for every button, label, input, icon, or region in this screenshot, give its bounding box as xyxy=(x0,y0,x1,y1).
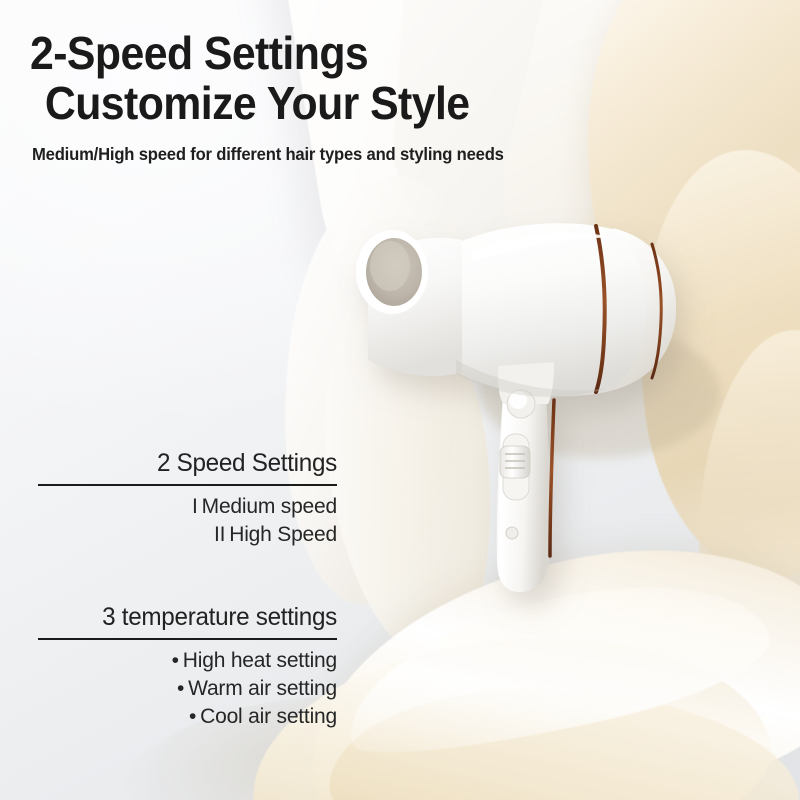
subtitle: Medium/High speed for different hair typ… xyxy=(32,144,504,165)
nozzle-bore-highlight xyxy=(370,241,410,291)
item-marker: • xyxy=(189,705,196,728)
item-label: Warm air setting xyxy=(188,677,337,700)
feature-divider-temperature xyxy=(38,638,337,640)
feature-title-speed: 2 Speed Settings xyxy=(47,448,337,478)
item-label: High Speed xyxy=(229,523,337,546)
item-marker: II xyxy=(214,523,225,546)
list-item: •High heat setting xyxy=(38,647,337,675)
indicator-dot xyxy=(506,527,518,539)
item-marker: • xyxy=(172,649,179,672)
feature-block-temperature: 3 temperature settings •High heat settin… xyxy=(38,602,337,731)
feature-divider-speed xyxy=(38,484,337,486)
headline-line-1: 2-Speed Settings xyxy=(30,28,470,78)
item-label: Medium speed xyxy=(202,495,337,518)
list-item: IMedium speed xyxy=(38,493,337,521)
list-item: •Cool air setting xyxy=(38,703,337,731)
list-item: IIHigh Speed xyxy=(38,521,337,549)
feature-block-speed: 2 Speed Settings IMedium speed IIHigh Sp… xyxy=(38,448,337,549)
feature-title-temperature: 3 temperature settings xyxy=(47,602,337,632)
item-marker: I xyxy=(192,495,198,518)
headline-line-2: Customize Your Style xyxy=(30,78,470,128)
product-feature-banner: 2-Speed Settings Customize Your Style Me… xyxy=(0,0,800,800)
headline: 2-Speed Settings Customize Your Style xyxy=(30,28,470,128)
feature-items-temperature: •High heat setting •Warm air setting •Co… xyxy=(38,647,337,731)
list-item: •Warm air setting xyxy=(38,675,337,703)
item-label: Cool air setting xyxy=(200,705,337,728)
speed-slider-thumb[interactable] xyxy=(500,446,530,478)
item-marker: • xyxy=(177,677,184,700)
item-label: High heat setting xyxy=(183,649,337,672)
feature-items-speed: IMedium speed IIHigh Speed xyxy=(38,493,337,549)
